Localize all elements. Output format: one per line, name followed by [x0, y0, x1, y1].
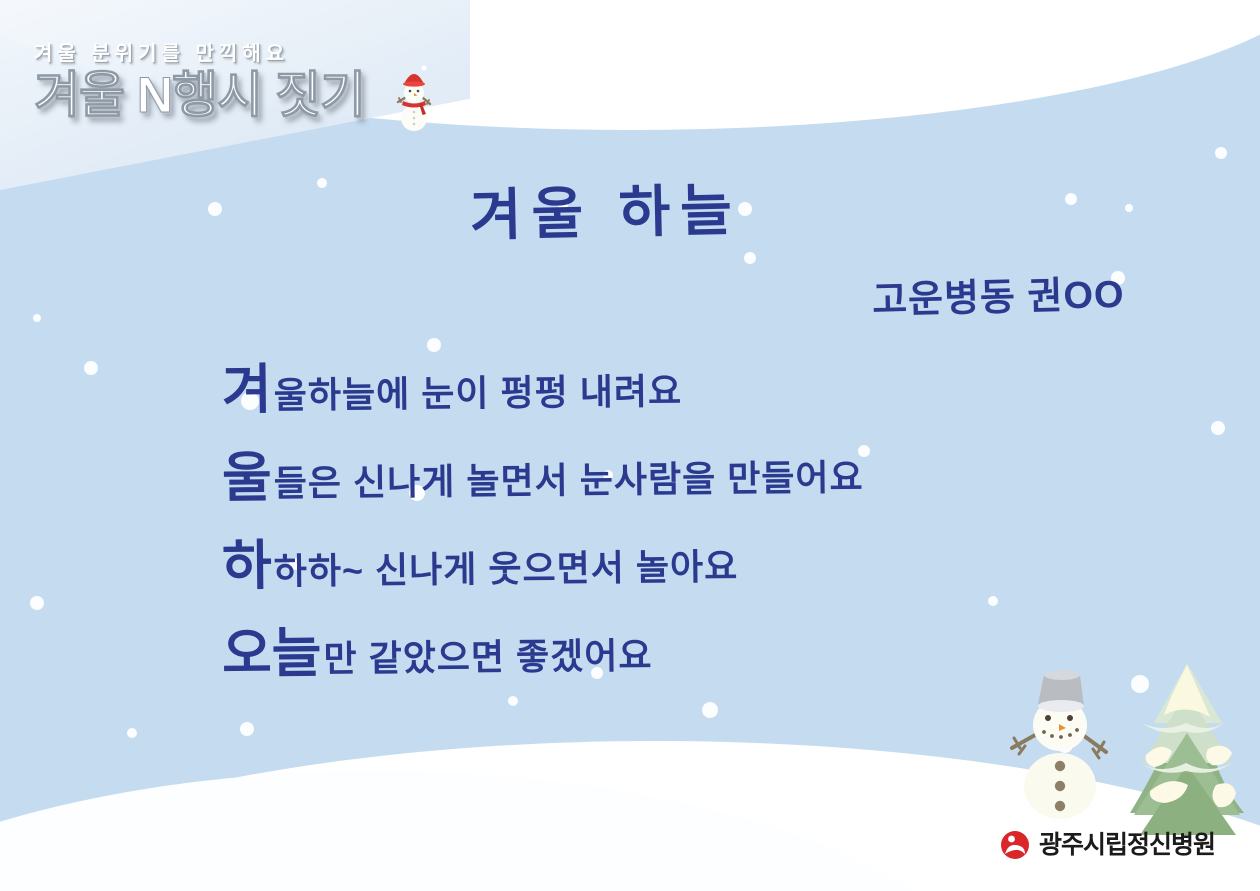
poem-author: 고운병동 권OO: [871, 263, 1125, 324]
poem-title: 겨울 하늘: [469, 165, 742, 252]
poem-line: 겨울하늘에 눈이 펑펑 내려요: [222, 357, 864, 418]
header-lockup: 겨울 분위기를 만끽해요 겨울 N행시 짓기: [34, 44, 365, 120]
poem-line-acrostic-letter: 울: [222, 451, 272, 506]
snowman-red-hat-icon: [392, 62, 436, 136]
poem-line-text: 울하늘에 눈이 펑펑 내려요: [272, 374, 683, 414]
poem-line-text: 하하~ 신나게 웃으면서 놀아요: [272, 549, 739, 590]
winter-poem-poster: 겨울 분위기를 만끽해요 겨울 N행시 짓기 겨울 하늘 고운병동 권OO 겨울…: [0, 0, 1260, 891]
poem-body: 겨울하늘에 눈이 펑펑 내려요울들은 신나게 놀면서 눈사람을 만들어요하하하~…: [222, 360, 864, 712]
snow-covered-pine-tree-icon: [1110, 645, 1260, 845]
poem-line: 하하하~ 신나게 웃으면서 놀아요: [222, 533, 864, 594]
poem-line-text: 들은 신나게 놀면서 눈사람을 만들어요: [272, 460, 864, 502]
header-kicker: 겨울 분위기를 만끽해요: [34, 44, 365, 64]
hospital-logo-mark-icon: [1000, 830, 1030, 860]
header-title: 겨울 N행시 짓기: [34, 70, 365, 120]
poem-line-text: 만 같았으면 좋겠어요: [321, 638, 652, 677]
poem-line: 울들은 신나게 놀면서 눈사람을 만들어요: [222, 445, 864, 506]
poem-line-acrostic-letter: 오늘: [222, 626, 322, 681]
hospital-logo: 광주시립정신병원: [1000, 830, 1215, 860]
snowman-bucket-hat-icon: [1000, 660, 1120, 830]
poem-line-acrostic-letter: 겨: [222, 363, 272, 418]
hospital-name: 광주시립정신병원: [1039, 833, 1215, 858]
poem-line-acrostic-letter: 하: [222, 539, 272, 594]
poem-line: 오늘 만 같았으면 좋겠어요: [222, 621, 864, 682]
